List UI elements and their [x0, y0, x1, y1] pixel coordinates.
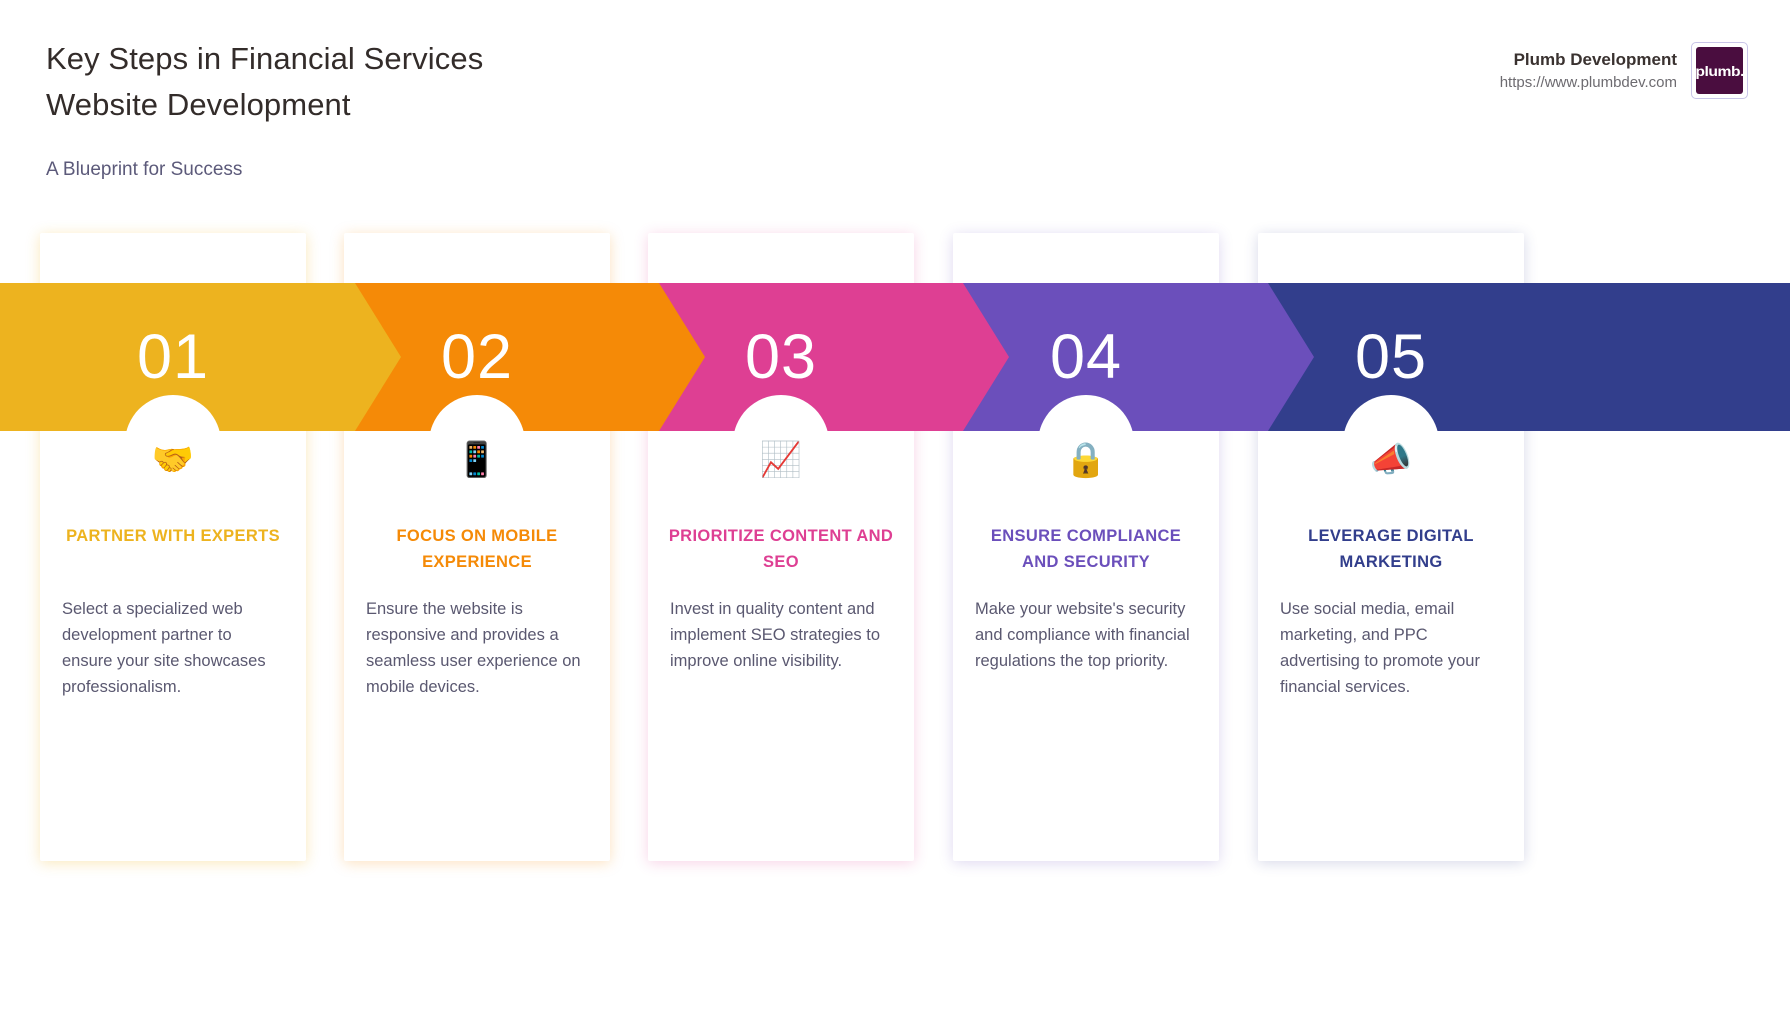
megaphone-icon: 📣 — [1258, 440, 1524, 480]
step-description-4: Make your website's security and complia… — [975, 596, 1197, 674]
step-title-2: Focus on Mobile Experience — [362, 523, 592, 575]
step-number-3: 03 — [648, 283, 914, 431]
brand-url[interactable]: https://www.plumbdev.com — [1500, 74, 1677, 92]
step-description-1: Select a specialized web development par… — [62, 596, 284, 700]
brand-text: Plumb Development https://www.plumbdev.c… — [1500, 50, 1677, 92]
page-title-line-2: Website Development — [46, 82, 806, 128]
mobile-phone-icon: 📱 — [344, 440, 610, 480]
step-number-1: 01 — [40, 283, 306, 431]
page-title: Key Steps in Financial Services Website … — [46, 36, 806, 128]
brand-logo-text: plumb. — [1696, 63, 1743, 79]
infographic-page: Key Steps in Financial Services Website … — [0, 0, 1790, 1024]
step-number-4: 04 — [953, 283, 1219, 431]
page-title-line-1: Key Steps in Financial Services — [46, 36, 806, 82]
step-description-3: Invest in quality content and implement … — [670, 596, 892, 674]
chart-increasing-icon: 📈 — [648, 440, 914, 480]
step-title-4: Ensure Compliance and Security — [971, 523, 1201, 575]
step-number-2: 02 — [344, 283, 610, 431]
step-description-2: Ensure the website is responsive and pro… — [366, 596, 588, 700]
handshake-icon: 🤝 — [40, 440, 306, 480]
brand-name: Plumb Development — [1500, 50, 1677, 70]
step-title-5: Leverage Digital Marketing — [1276, 523, 1506, 575]
lock-icon: 🔒 — [953, 440, 1219, 480]
page-subtitle: A Blueprint for Success — [46, 158, 242, 182]
brand-block: Plumb Development https://www.plumbdev.c… — [1500, 42, 1748, 99]
step-title-1: Partner with Experts — [58, 523, 288, 549]
brand-logo: plumb. — [1691, 42, 1748, 99]
step-title-3: Prioritize Content and SEO — [666, 523, 896, 575]
step-number-5: 05 — [1258, 283, 1524, 431]
step-description-5: Use social media, email marketing, and P… — [1280, 596, 1502, 700]
plumb-logo-icon: plumb. — [1696, 47, 1743, 94]
